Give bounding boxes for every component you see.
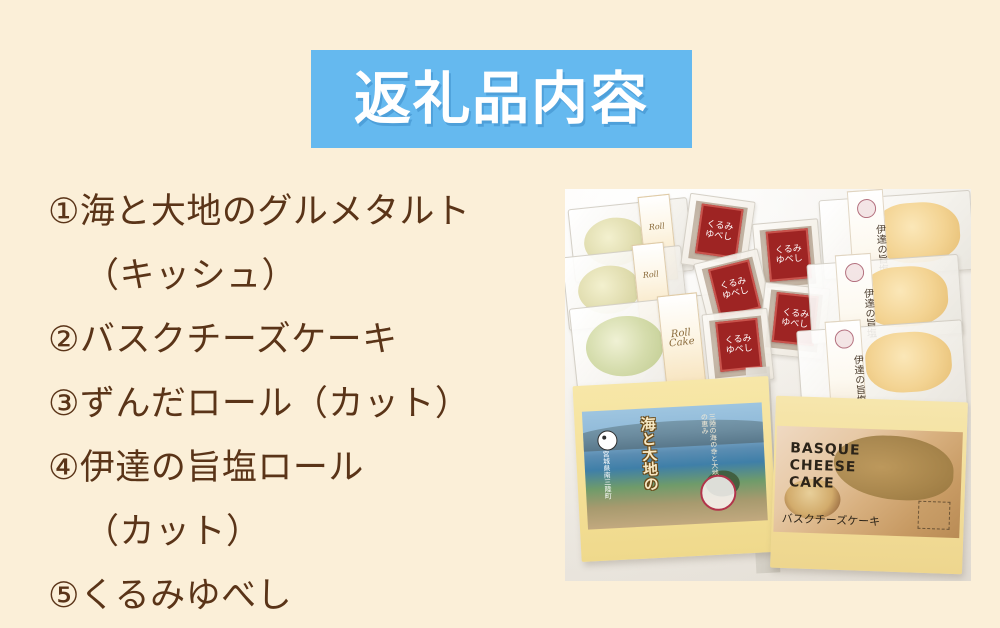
basque-title-jp: バスクチーズケーキ	[782, 510, 881, 529]
page-root: 返礼品内容 ①海と大地のグルメタルト （キッシュ） ②バスクチーズケーキ ③ずん…	[0, 0, 1000, 621]
umashio-roll-stamp	[856, 198, 876, 218]
list-item: ①海と大地のグルメタルト	[48, 180, 548, 244]
reward-contents-list: ①海と大地のグルメタルト （キッシュ） ②バスクチーズケーキ ③ずんだロール（カ…	[48, 180, 548, 628]
section-header-banner: 返礼品内容	[311, 50, 692, 148]
list-item: ⑤くるみゆべし	[48, 564, 548, 628]
artwork-postage-stamp	[918, 501, 951, 530]
list-item: ④伊達の旨塩ロール	[48, 436, 548, 500]
umashio-roll-stamp	[834, 329, 854, 349]
gourmet-tart-box: 海と大地の 三陸の海の幸と大地の恵み 宮城県南三陸町	[573, 376, 778, 562]
yubeshi-label-text: くるみ ゆべし	[699, 219, 739, 244]
basque-box-artwork: BASQUE CHEESE CAKE バスクチーズケーキ	[773, 426, 963, 538]
gourmet-tart-box-artwork: 海と大地の 三陸の海の幸と大地の恵み 宮城県南三陸町	[582, 402, 768, 529]
list-item-continuation: （カット）	[48, 500, 548, 564]
list-item: ③ずんだロール（カット）	[48, 372, 548, 436]
roll-cake-label-text: Roll Cake	[664, 327, 700, 348]
product-photo: Roll Roll Roll Cake くるみ ゆべし くるみ ゆべし	[565, 189, 971, 581]
yubeshi-label-text: くるみ ゆべし	[714, 275, 756, 304]
list-item-continuation: （キッシュ）	[48, 244, 548, 308]
roll-cake-slice	[583, 312, 667, 380]
gourmet-tart-stamp	[699, 474, 737, 512]
page-title: 返礼品内容	[354, 71, 649, 128]
yubeshi-label: くるみ ゆべし	[766, 228, 812, 281]
list-item: ②バスクチーズケーキ	[48, 308, 548, 372]
basque-title-en: BASQUE CHEESE CAKE	[789, 440, 861, 493]
yubeshi-label: くるみ ゆべし	[695, 203, 744, 258]
yubeshi-label: くるみ ゆべし	[715, 318, 762, 372]
yubeshi-label-text: くるみ ゆべし	[769, 243, 809, 266]
roll-cake-label-text: Roll	[643, 221, 670, 233]
yubeshi-label-text: くるみ ゆべし	[719, 333, 759, 357]
roll-cake-label-text: Roll	[637, 269, 664, 281]
basque-cheese-cake-box: BASQUE CHEESE CAKE バスクチーズケーキ	[770, 396, 968, 575]
gourmet-tart-side-caption: 宮城県南三陸町	[602, 450, 614, 520]
umashio-roll-stamp	[844, 262, 864, 282]
umashio-roll-contents	[864, 329, 954, 395]
